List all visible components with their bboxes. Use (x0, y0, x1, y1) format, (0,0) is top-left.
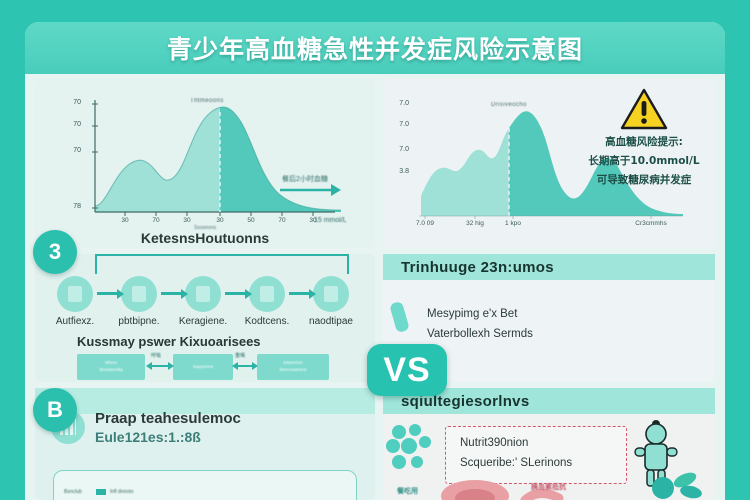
page-title: 青少年高血糖急性并发症风险示意图 (167, 30, 583, 66)
chart-a-xlabel: 15 mmol/L (314, 217, 347, 224)
flow-box-1: Nhmo Bncwsneltq (77, 354, 145, 380)
chart-b-ytick-2: 7.0 (387, 146, 409, 153)
flow-headline: Kussmay pswer Kixuoarisees (77, 334, 261, 349)
chart-a-xtick-4: 50 (234, 217, 268, 224)
plan-mini-card-text2: Infl dnnoto (110, 489, 133, 495)
plan-mini-card[interactable]: Bsnclub Infl dnnoto (53, 470, 357, 500)
flow-node-5-icon (313, 276, 349, 312)
chart-a-xtick-1: 70 (139, 217, 173, 224)
nutrition-box-line-1: Nutrit390nion (460, 437, 528, 449)
flow-link-label-2: 重鳴 (235, 352, 245, 359)
flow-box-1-line1: Nhmo (105, 360, 117, 367)
step-badge-b[interactable]: B (33, 388, 77, 432)
flow-link-1-icon (151, 365, 169, 367)
plan-legend-swatch (96, 489, 106, 495)
treatment-line-2: Vaterbollexh Sermds (427, 324, 533, 344)
flow-box-1-line2: Bncwsneltq (99, 367, 122, 374)
treatment-header: Trinhuuge 23n:umos (383, 254, 715, 280)
warning-callout: 高血糖风险提示: 长期高于10.0mmol/L 可导致糖尿病并发症 (581, 88, 707, 188)
flow-arrow-3-icon (225, 292, 247, 295)
warning-line-2: 长期高于10.0mmol/L (581, 154, 707, 168)
chart-a-ytick-1: 70 (59, 121, 81, 128)
chart-b-xtick-3: Cr3cmmhs (634, 220, 668, 227)
flow-node-label-1: Autfiexz. (44, 316, 106, 327)
flow-bracket (95, 254, 349, 274)
pathophysiology-flow-panel: Autfiexz. pbtbipne. Keragiene. Kodtcens.… (35, 254, 375, 382)
flow-box-2-line1: Saqoonne (193, 364, 214, 371)
flow-node-label-3: Keragiene. (172, 316, 234, 327)
chart-b-xtick-0: 7.0 09 (408, 220, 442, 227)
chart-b-peak-label: Drisiveocho (491, 102, 527, 108)
chart-a-peak-label: Thtmeoons (190, 98, 224, 104)
nutrition-cn-label-left: 餐吃用 (397, 486, 418, 496)
step-badge-b-label: B (47, 397, 63, 423)
chart-a-xtick-2: 30 (170, 217, 204, 224)
insulin-pen-icon (389, 301, 410, 333)
chart-a-ytick-3: 78 (59, 203, 81, 210)
flow-link-2-icon (237, 365, 253, 367)
chart-a-xtick-5: 70 (265, 217, 299, 224)
vs-badge: VS (367, 344, 447, 396)
nutrition-box-line-2: Scqueribe:' SLerinons (460, 457, 572, 469)
flow-box-3-line1: Iniomnlon (283, 360, 303, 367)
infographic-poster: 青少年高血糖急性并发症风险示意图 70 (25, 22, 725, 500)
flow-node-4-icon (249, 276, 285, 312)
flow-node-label-4: Kodtcens. (236, 316, 298, 327)
warning-line-3: 可导致糖尿病并发症 (581, 173, 707, 187)
flow-node-label-2: pbtbipne. (108, 316, 170, 327)
nutrition-panel: sqiultegiesorlnvs Nutrit390nion Scquerib… (383, 388, 715, 500)
chart-b-xtick-2: 1 kpo (496, 220, 530, 227)
flow-node-label-5: naodtipae (300, 316, 362, 327)
chart-b-ytick-0: 7.0 (387, 100, 409, 107)
chart-b-ytick-3: 3.8 (387, 168, 409, 175)
flow-node-2-icon (121, 276, 157, 312)
cell-cluster-icon (385, 422, 443, 480)
chart-b-ytick-1: 7.0 (387, 121, 409, 128)
flow-box-3: Iniomnlon Bsncnvanens (257, 354, 329, 380)
flow-box-3-line2: Bsncnvanens (279, 367, 306, 374)
plan-line-1: Praap teahesulemoc (95, 410, 241, 427)
flow-arrow-4-icon (289, 292, 311, 295)
treatment-heading: Trinhuuge 23n:umos (401, 259, 554, 276)
flow-arrow-2-icon (161, 292, 183, 295)
step-badge-3-label: 3 (49, 239, 61, 265)
step-badge-3[interactable]: 3 (33, 230, 77, 274)
warning-line-1: 高血糖风险提示: (581, 135, 707, 149)
chart-a-xtick-3: 30 (203, 217, 237, 224)
chart-a-ytick-0: 70 (59, 99, 81, 106)
chart-b-xtick-1: 32 hig (458, 220, 492, 227)
flow-box-2: Saqoonne (173, 354, 233, 380)
warning-triangle-icon (620, 88, 668, 130)
chart-a-axis-note: 餐后2小时血糖 (282, 174, 328, 184)
flow-link-label-1: 呼吸 (151, 352, 161, 359)
vegetable-icon (647, 466, 707, 500)
plan-line-2: Eule121es:1.:8ß (95, 429, 201, 445)
plan-mini-card-text: Bsnclub (64, 489, 82, 495)
flow-node-1-icon (57, 276, 93, 312)
plan-panel: Praap teahesulemoc Eule121es:1.:8ß Bsncl… (35, 388, 375, 500)
vs-badge-label: VS (383, 351, 430, 390)
flow-node-3-icon (185, 276, 221, 312)
chart-panel-glucose-risk: 7.0 7.0 7.0 3.8 7.0 09 32 hig 1 kpo Cr3c… (383, 78, 715, 248)
chart-a-ytick-2: 70 (59, 147, 81, 154)
nutrition-cn-label-right: 胰岛素抵抗 (531, 482, 566, 492)
treatment-line-1: Mesypimg e'x Bet (427, 304, 533, 324)
chart-a-xtick-0: 30 (108, 217, 142, 224)
poster-title-bar: 青少年高血糖急性并发症风险示意图 (25, 22, 725, 74)
chart-panel-ketosis: 70 70 70 78 30 70 30 30 50 70 30 15 mmol… (35, 78, 375, 248)
chart-a-caption: KetesnsHoutuonns (35, 230, 375, 246)
flow-arrow-1-icon (97, 292, 119, 295)
